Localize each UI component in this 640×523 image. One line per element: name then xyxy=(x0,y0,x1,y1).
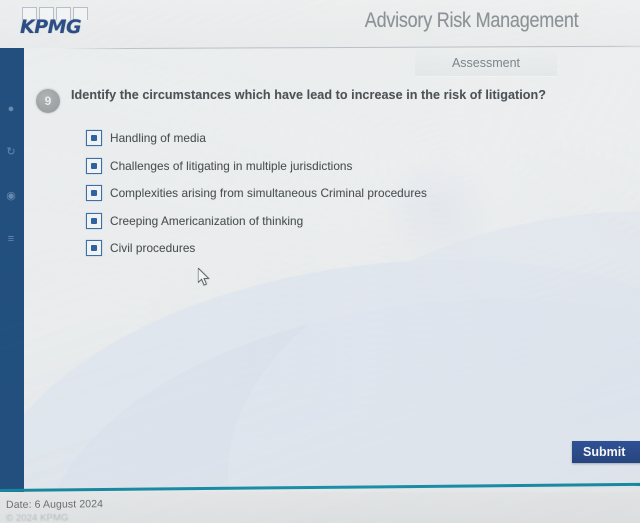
question-number-badge: 9 xyxy=(36,89,60,113)
list-icon[interactable]: ≡ xyxy=(2,230,20,248)
option-row-4[interactable]: Creeping Americanization of thinking xyxy=(86,213,427,229)
submit-button-label: Submit xyxy=(583,445,625,459)
submit-button[interactable]: Submit xyxy=(572,441,640,463)
option-row-1[interactable]: Handling of media xyxy=(86,130,427,146)
tab-assessment[interactable]: Assessment xyxy=(415,49,557,77)
option-label-1: Handling of media xyxy=(110,131,206,145)
checkbox-option-3[interactable] xyxy=(86,185,102,201)
content-canvas xyxy=(24,48,640,488)
checkbox-option-2[interactable] xyxy=(86,158,102,174)
option-label-4: Creeping Americanization of thinking xyxy=(110,214,303,228)
question-row: 9 Identify the circumstances which have … xyxy=(36,88,546,113)
option-label-5: Civil procedures xyxy=(110,241,195,255)
person-icon[interactable]: ● xyxy=(2,100,20,118)
clock-icon[interactable]: ◉ xyxy=(2,186,20,204)
option-row-3[interactable]: Complexities arising from simultaneous C… xyxy=(86,185,427,201)
kpmg-logo: KPMG xyxy=(18,7,96,41)
checkbox-option-4[interactable] xyxy=(86,213,102,229)
footer-copyright: © 2024 KPMG xyxy=(6,512,69,523)
sidebar-rail[interactable]: ● ↻ ◉ ≡ xyxy=(0,48,24,503)
checkbox-option-5[interactable] xyxy=(86,240,102,256)
option-label-2: Challenges of litigating in multiple jur… xyxy=(110,159,353,173)
page-footer: Date: 6 August 2024 © 2024 KPMG xyxy=(0,492,640,523)
option-row-5[interactable]: Civil procedures xyxy=(86,240,427,256)
question-text: Identify the circumstances which have le… xyxy=(71,88,546,104)
checkbox-option-1[interactable] xyxy=(86,130,102,146)
page-title: Advisory Risk Management xyxy=(364,9,578,33)
mouse-cursor xyxy=(198,268,211,287)
app-header: KPMG Advisory Risk Management xyxy=(0,0,640,48)
tab-assessment-label: Assessment xyxy=(452,56,520,70)
background-wave-2 xyxy=(24,257,640,488)
footer-date: Date: 6 August 2024 xyxy=(6,498,103,511)
kpmg-wordmark: KPMG xyxy=(20,16,81,38)
assessment-screen: ● ↻ ◉ ≡ Assessment KPMG Advisory Risk Ma… xyxy=(0,0,640,523)
refresh-icon[interactable]: ↻ xyxy=(2,142,20,160)
answer-options-list: Handling of media Challenges of litigati… xyxy=(86,130,427,256)
option-label-3: Complexities arising from simultaneous C… xyxy=(110,186,427,200)
option-row-2[interactable]: Challenges of litigating in multiple jur… xyxy=(86,158,427,174)
background-wave-1 xyxy=(24,221,640,488)
tab-strip: Assessment xyxy=(0,48,640,78)
